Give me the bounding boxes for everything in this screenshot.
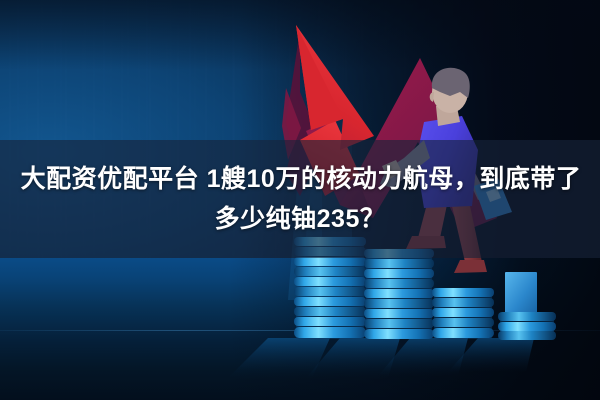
coin-stack-3 (432, 288, 494, 339)
coin-stack-2 (364, 249, 434, 339)
caption-line-1: 大配资优配平台 1艘10万的核动力航母，到底带了 (19, 161, 582, 197)
coin-stack-4 (498, 312, 556, 340)
caption-line-2: 多少纯铀235？ (215, 201, 386, 237)
article-header-image: 大配资优配平台 1艘10万的核动力航母，到底带了 多少纯铀235？ (0, 0, 600, 400)
stack-shadows (228, 338, 534, 378)
caption-overlay: 大配资优配平台 1艘10万的核动力航母，到底带了 多少纯铀235？ (0, 140, 600, 258)
banknote (505, 272, 537, 318)
person-back-shoe (454, 260, 487, 273)
